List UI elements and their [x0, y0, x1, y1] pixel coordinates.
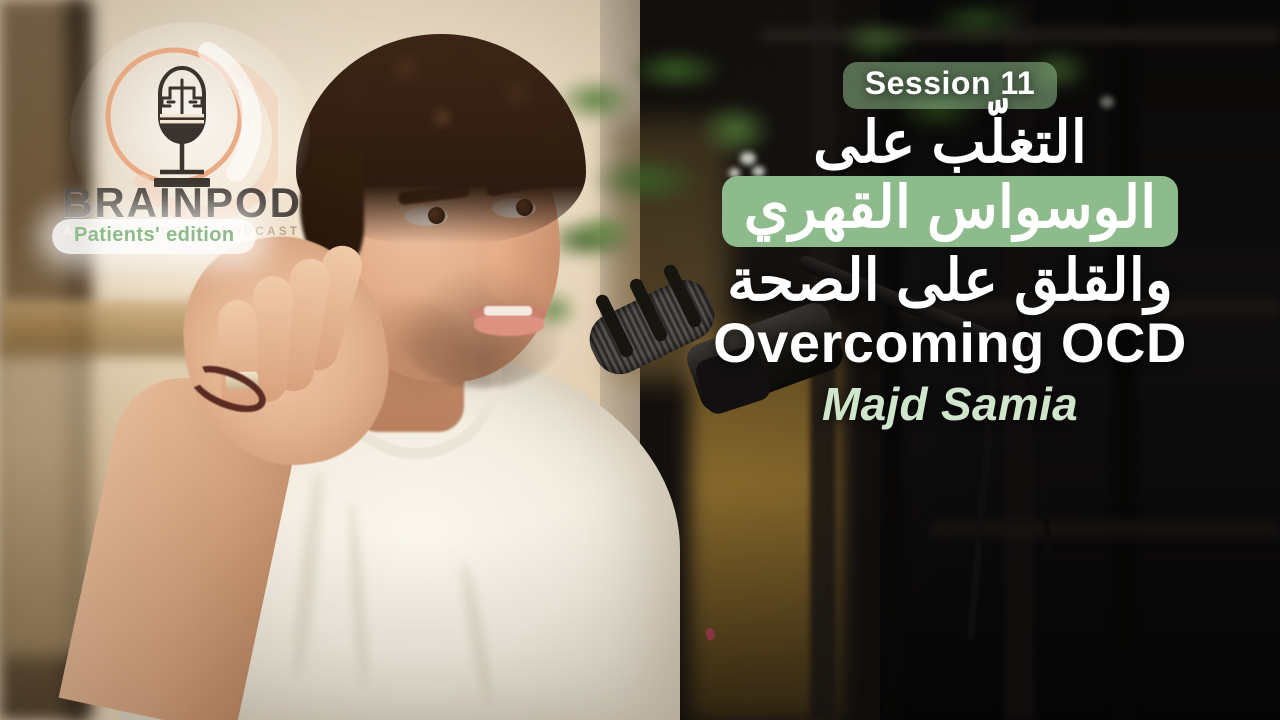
edition-badge: Patients' edition	[52, 219, 256, 254]
arabic-title-line-3: والقلق على الصحة	[727, 251, 1173, 310]
arabic-title-line-2-highlighted: الوسواس القهري	[722, 176, 1179, 247]
teeth	[484, 306, 532, 316]
brand-name: BRAINPOD	[52, 182, 312, 224]
guest-name: Majd Samia	[822, 379, 1078, 430]
lower-lip	[474, 316, 544, 336]
video-title-card: BRAINPOD A PSYCHOLOGIST PODCAST Patients…	[0, 0, 1280, 720]
english-title: Overcoming OCD	[713, 314, 1187, 373]
session-badge: Session 11	[843, 62, 1057, 109]
brain-microphone-icon	[136, 58, 228, 198]
arabic-title-line-1: التغلّب على	[813, 113, 1087, 172]
title-block: Session 11 التغلّب على الوسواس القهري وا…	[640, 62, 1260, 430]
